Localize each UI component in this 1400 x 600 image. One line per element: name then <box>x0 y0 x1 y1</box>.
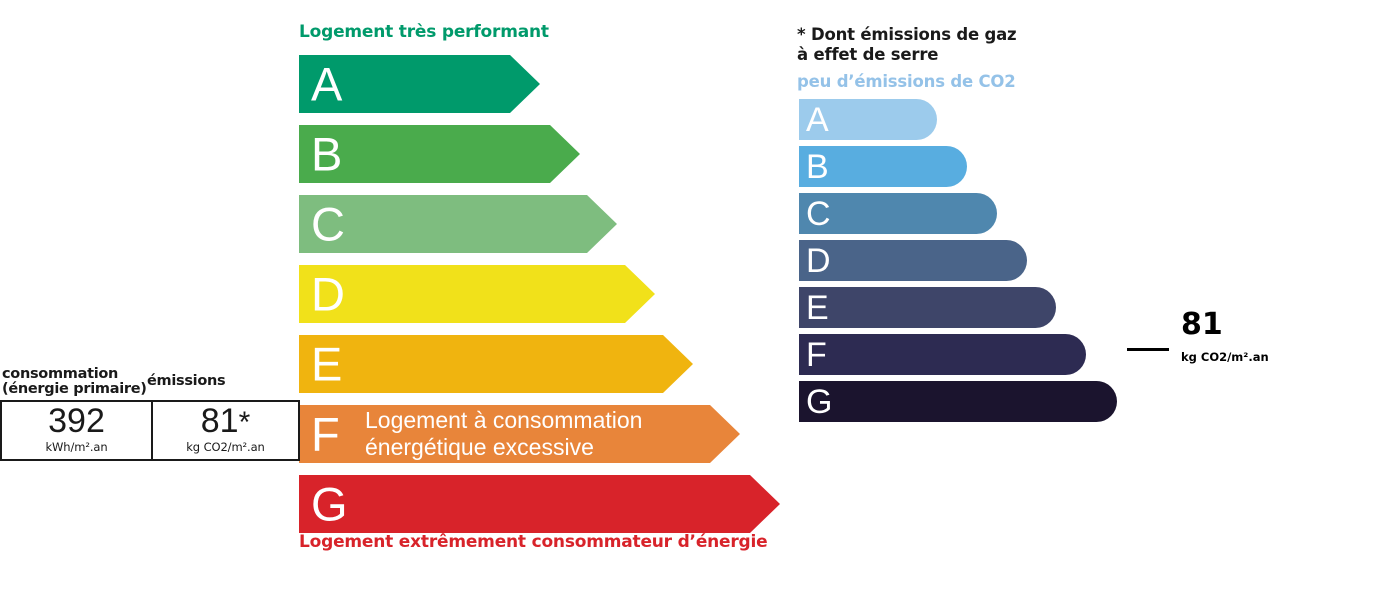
ges-row-d: D <box>799 240 1027 281</box>
dpe-diagram: Logement très performant ABCDEFLogement … <box>0 0 1400 600</box>
ges-bar-shape-e <box>799 287 1056 328</box>
ges-row-b: B <box>799 146 967 187</box>
ges-callout-value: 81 <box>1181 310 1223 340</box>
ges-bar-shape-d <box>799 240 1027 281</box>
ges-letter-b: B <box>806 150 829 184</box>
ges-letter-d: D <box>806 244 831 278</box>
ges-row-e: E <box>799 287 1056 328</box>
ges-heading-sub: peu d’émissions de CO2 <box>797 72 1016 92</box>
ges-callout-unit: kg CO2/m².an <box>1181 352 1269 364</box>
ges-letter-e: E <box>806 291 829 325</box>
ges-letter-g: G <box>806 385 832 419</box>
ges-bar-shape-g <box>799 381 1117 422</box>
ges-heading-main: * Dont émissions de gaz à effet de serre <box>797 25 1016 65</box>
ges-bar-shape-f <box>799 334 1086 375</box>
ges-row-f: F <box>799 334 1086 375</box>
ges-letter-c: C <box>806 197 831 231</box>
ges-callout-leader-line <box>1127 348 1169 351</box>
ges-row-c: C <box>799 193 997 234</box>
ges-letter-a: A <box>806 103 829 137</box>
ges-emission-scale: * Dont émissions de gaz à effet de serre… <box>0 0 1400 600</box>
ges-row-a: A <box>799 99 937 140</box>
ges-row-g: G <box>799 381 1117 422</box>
ges-letter-f: F <box>806 338 827 372</box>
